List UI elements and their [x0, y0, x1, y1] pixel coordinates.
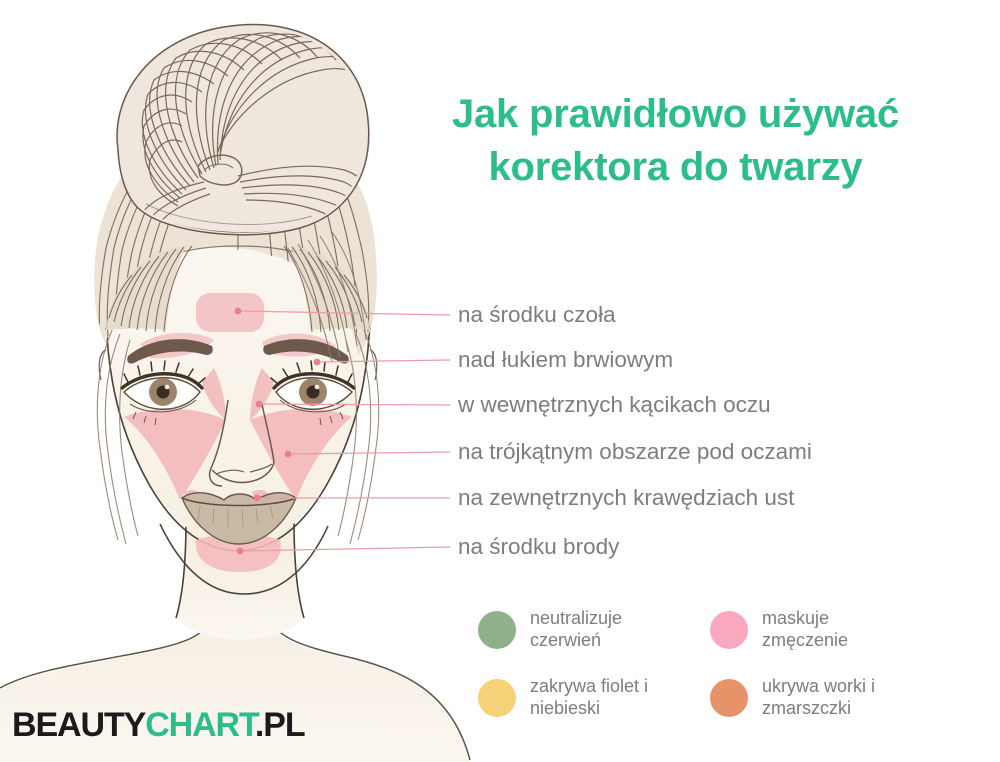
legend-text-orange-line1: ukrywa worki i — [762, 676, 875, 698]
logo-part-chart: CHART — [145, 706, 255, 744]
callout-label-2: nad łukiem brwiowym — [458, 347, 673, 373]
legend-text-green-line2: czerwień — [530, 630, 622, 652]
legend-swatch-yellow — [478, 679, 516, 717]
legend-text-green: neutralizuje czerwień — [530, 608, 622, 651]
callout-label-4: na trójkątnym obszarze pod oczami — [458, 439, 812, 465]
legend-text-pink-line1: maskuje — [762, 608, 848, 630]
callout-label-3: w wewnętrznych kącikach oczu — [458, 392, 771, 418]
legend-text-yellow-line2: niebieski — [530, 698, 648, 720]
callout-label-6: na środku brody — [458, 534, 619, 560]
legend-swatch-green — [478, 611, 516, 649]
legend-item-orange: ukrywa worki i zmarszczki — [710, 664, 942, 732]
callout-label-1: na środku czoła — [458, 302, 616, 328]
legend-item-green: neutralizuje czerwień — [478, 596, 710, 664]
legend-text-green-line1: neutralizuje — [530, 608, 622, 630]
legend-text-pink: maskuje zmęczenie — [762, 608, 848, 651]
legend-text-yellow-line1: zakrywa fiolet i — [530, 676, 648, 698]
legend-item-pink: maskuje zmęczenie — [710, 596, 942, 664]
site-logo[interactable]: BEAUTYCHART.PL — [12, 706, 305, 745]
infographic-root: Jak prawidłowo używać korektora do twarz… — [0, 0, 1000, 762]
legend-text-yellow: zakrywa fiolet i niebieski — [530, 676, 648, 719]
legend-item-yellow: zakrywa fiolet i niebieski — [478, 664, 710, 732]
callout-label-5: na zewnętrznych krawędziach ust — [458, 485, 794, 511]
legend-text-pink-line2: zmęczenie — [762, 630, 848, 652]
logo-part-tld: .PL — [255, 706, 305, 744]
legend-text-orange: ukrywa worki i zmarszczki — [762, 676, 875, 719]
legend-swatch-pink — [710, 611, 748, 649]
legend-text-orange-line2: zmarszczki — [762, 698, 875, 720]
logo-part-beauty: BEAUTY — [12, 706, 145, 744]
legend: neutralizuje czerwień maskuje zmęczenie … — [478, 596, 948, 732]
legend-swatch-orange — [710, 679, 748, 717]
